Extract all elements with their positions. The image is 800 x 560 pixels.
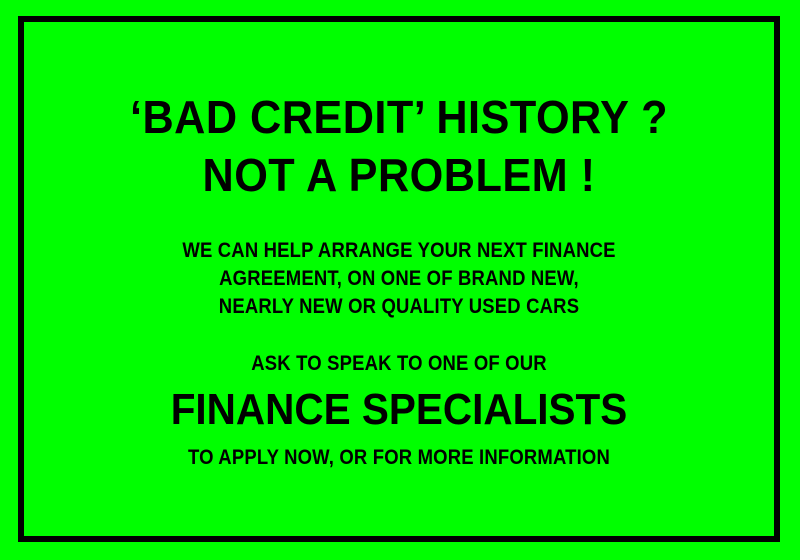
cta-footer-text: TO APPLY NOW, OR FOR MORE INFORMATION <box>69 443 729 473</box>
poster-content: ‘BAD CREDIT’ HISTORY ? NOT A PROBLEM ! W… <box>24 22 774 536</box>
headline-line-1: ‘BAD CREDIT’ HISTORY ? <box>47 88 752 146</box>
body-line-3: NEARLY NEW OR QUALITY USED CARS <box>69 293 729 321</box>
body-line-2: AGREEMENT, ON ONE OF BRAND NEW, <box>69 265 729 293</box>
advertisement-poster: ‘BAD CREDIT’ HISTORY ? NOT A PROBLEM ! W… <box>0 0 800 560</box>
headline-line-2: NOT A PROBLEM ! <box>47 146 752 204</box>
body-line-1: WE CAN HELP ARRANGE YOUR NEXT FINANCE <box>69 237 729 265</box>
cta-lead-in-text: ASK TO SPEAK TO ONE OF OUR <box>69 349 729 379</box>
headline-block: ‘BAD CREDIT’ HISTORY ? NOT A PROBLEM ! <box>24 88 774 204</box>
cta-emphasis-text: FINANCE SPECIALISTS <box>54 383 744 437</box>
call-to-action-block: ASK TO SPEAK TO ONE OF OUR FINANCE SPECI… <box>24 349 774 473</box>
body-text-block: WE CAN HELP ARRANGE YOUR NEXT FINANCE AG… <box>24 237 774 321</box>
